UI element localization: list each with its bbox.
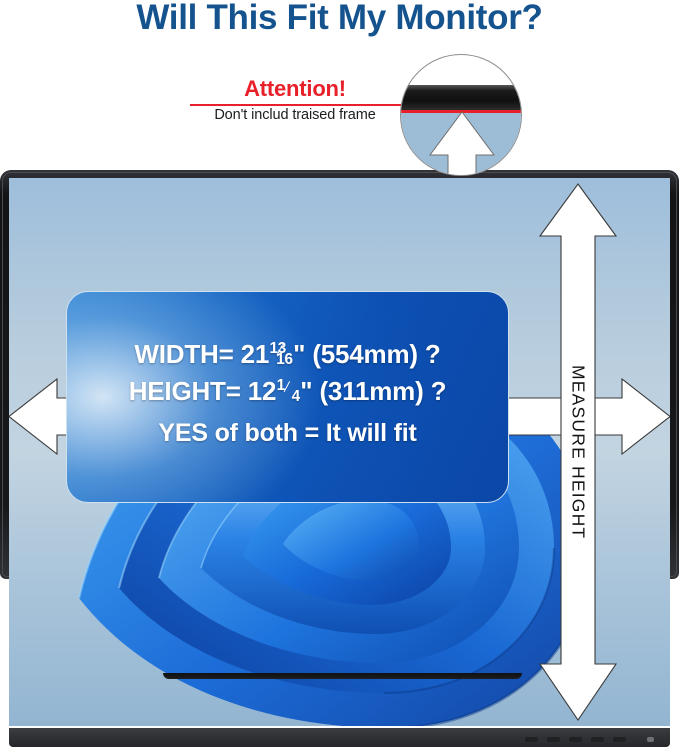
width-metric: (554mm) bbox=[312, 339, 418, 369]
dimension-info-panel: WIDTH= 211316" (554mm) ? HEIGHT= 1214" (… bbox=[66, 291, 509, 503]
monitor-button-2[interactable] bbox=[547, 737, 560, 742]
height-label: HEIGHT= bbox=[129, 376, 241, 406]
height-unit: " bbox=[300, 376, 312, 406]
width-unit: " bbox=[293, 339, 305, 369]
height-fraction: 14 bbox=[277, 384, 300, 400]
width-value: 21 bbox=[241, 339, 270, 369]
width-line: WIDTH= 211316" (554mm) ? bbox=[67, 336, 508, 373]
attention-underline bbox=[190, 104, 403, 106]
fraction-bar bbox=[284, 381, 291, 392]
height-fraction-numerator: 1 bbox=[277, 375, 285, 397]
width-fraction: 1316 bbox=[269, 347, 292, 363]
height-fraction-denominator: 4 bbox=[292, 386, 300, 408]
up-arrow-icon bbox=[429, 111, 495, 176]
conclusion-line: YES of both = It will fit bbox=[67, 410, 508, 452]
power-led-icon bbox=[647, 737, 654, 742]
height-question-mark: ? bbox=[431, 376, 447, 406]
monitor-button-5[interactable] bbox=[613, 737, 626, 742]
width-fraction-denominator: 16 bbox=[276, 349, 293, 371]
monitor-button-1[interactable] bbox=[525, 737, 538, 742]
height-line: HEIGHT= 1214" (311mm) ? bbox=[67, 373, 508, 410]
monitor-stand-base-edge bbox=[163, 673, 522, 679]
page-title: Will This Fit My Monitor? bbox=[0, 0, 679, 38]
attention-callout: Attention! Don't includ traised frame bbox=[186, 78, 404, 124]
attention-heading: Attention! bbox=[244, 78, 346, 100]
monitor-button-4[interactable] bbox=[591, 737, 604, 742]
magnified-bezel bbox=[400, 85, 522, 111]
measure-height-arrow bbox=[537, 178, 619, 726]
height-value: 12 bbox=[248, 376, 277, 406]
width-label: WIDTH= bbox=[134, 339, 233, 369]
height-metric: (311mm) bbox=[319, 376, 423, 406]
monitor-bottom-bezel bbox=[9, 728, 670, 747]
width-question-mark: ? bbox=[425, 339, 441, 369]
monitor-screen: MEASURE WIDTH MEASURE HEIGHT WIDTH= 2113… bbox=[9, 178, 670, 726]
magnifier-circle bbox=[400, 54, 522, 176]
attention-subtext: Don't includ traised frame bbox=[186, 108, 404, 124]
monitor-frame: MEASURE WIDTH MEASURE HEIGHT WIDTH= 2113… bbox=[0, 170, 679, 579]
monitor-button-3[interactable] bbox=[569, 737, 582, 742]
